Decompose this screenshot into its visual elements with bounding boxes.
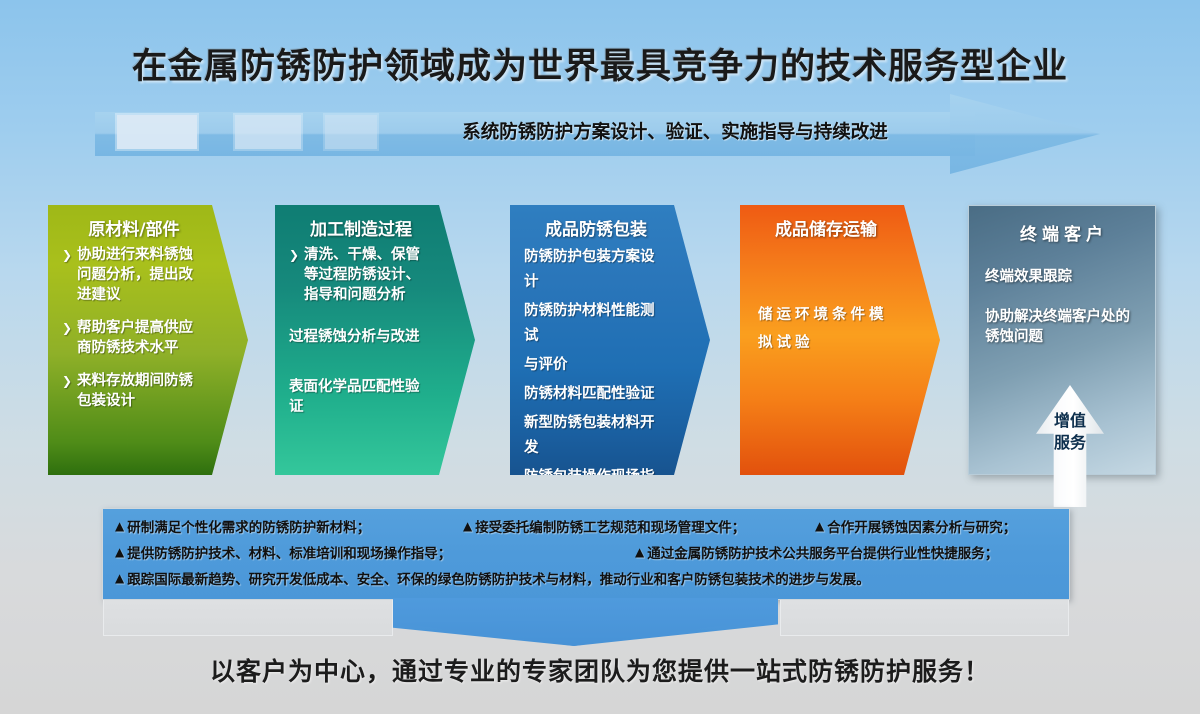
stage-heading: 加工制造过程	[289, 215, 433, 240]
capabilities-row: ▲ 跟踪国际最新趋势、研究开发低成本、安全、环保的绿色防锈防护技术与材料，推动行…	[115, 568, 1057, 594]
chevron-content: 成品储存运输	[754, 215, 898, 245]
stage-item: 来料存放期间防锈包装设计	[62, 371, 206, 411]
capability-text: 跟踪国际最新趋势、研究开发低成本、安全、环保的绿色防锈防护技术与材料，推动行业和…	[127, 568, 870, 588]
stage-item: 拟试验	[758, 333, 908, 353]
stage-heading: 终端客户	[985, 220, 1143, 245]
triangle-icon: ▲	[115, 571, 124, 585]
poster-canvas: 在金属防锈防护领域成为世界最具竞争力的技术服务型企业 系统防锈防护方案设计、验证…	[0, 0, 1200, 714]
page-title: 在金属防锈防护领域成为世界最具竞争力的技术服务型企业	[0, 38, 1200, 89]
stage-item: 表面化学品匹配性验证	[289, 377, 433, 417]
capability-text: 通过金属防锈防护技术公共服务平台提供行业性快捷服务；	[647, 542, 998, 562]
capability-item: ▲ 跟踪国际最新趋势、研究开发低成本、安全、环保的绿色防锈防护技术与材料，推动行…	[115, 568, 1057, 588]
chevron-content: 原材料/部件 协助进行来料锈蚀问题分析，提出改进建议 帮助客户提高供应商防锈技术…	[62, 215, 206, 424]
stage-heading: 成品防锈包装	[524, 215, 668, 240]
banner-block-2	[235, 115, 301, 149]
chevron-content: 成品防锈包装 防锈防护包装方案设计 防锈防护材料性能测试 与评价 防锈材料匹配性…	[524, 215, 668, 548]
stage-item: 过程锈蚀分析与改进	[289, 327, 433, 347]
stage-item: 防锈防护材料性能测试	[524, 299, 668, 349]
box-content: 终端客户 终端效果跟踪 协助解决终端客户处的锈蚀问题	[985, 220, 1143, 367]
triangle-icon: ▲	[635, 545, 644, 559]
banner-label: 系统防锈防护方案设计、验证、实施指导与持续改进	[395, 115, 955, 151]
banner-arrowhead-icon	[950, 94, 1100, 174]
triangle-icon: ▲	[815, 519, 824, 533]
capability-item: ▲ 合作开展锈蚀因素分析与研究；	[815, 516, 1016, 536]
stage-item: 储运环境条件模	[758, 305, 908, 325]
capability-text: 研制满足个性化需求的防锈防护新材料；	[127, 516, 370, 536]
process-banner-arrow: 系统防锈防护方案设计、验证、实施指导与持续改进	[95, 98, 1100, 170]
capability-item: ▲ 接受委托编制防锈工艺规范和现场管理文件；	[463, 516, 815, 536]
capabilities-row: ▲ 提供防锈防护技术、材料、标准培训和现场操作指导； ▲ 通过金属防锈防护技术公…	[115, 542, 1057, 568]
stage-item: 协助解决终端客户处的锈蚀问题	[985, 307, 1143, 347]
stage-chevron-packaging[interactable]: 成品防锈包装 防锈防护包装方案设计 防锈防护材料性能测试 与评价 防锈材料匹配性…	[510, 205, 710, 475]
value-added-service-label: 增值服务	[1052, 410, 1088, 454]
capabilities-panel: ▲ 研制满足个性化需求的防锈防护新材料； ▲ 接受委托编制防锈工艺规范和现场管理…	[102, 508, 1070, 600]
banner-block-1	[117, 115, 197, 149]
stage-item: 新型防锈包装材料开发	[524, 411, 668, 461]
stage-item: 终端效果跟踪	[985, 267, 1143, 287]
background-mask	[103, 600, 393, 636]
stage-item: 防锈材料匹配性验证	[524, 382, 668, 407]
capability-item: ▲ 提供防锈防护技术、材料、标准培训和现场操作指导；	[115, 542, 635, 562]
stage-chevron-storage-transport[interactable]: 成品储存运输 储运环境条件模 拟试验	[740, 205, 940, 475]
footer-slogan: 以客户为中心，通过专业的专家团队为您提供一站式防锈防护服务！	[0, 652, 1200, 688]
stage-heading: 原材料/部件	[62, 215, 206, 240]
capability-text: 合作开展锈蚀因素分析与研究；	[827, 516, 1016, 536]
stage-item: 防锈防护包装方案设计	[524, 245, 668, 295]
chevron-content: 加工制造过程 清洗、干燥、保管等过程防锈设计、指导和问题分析 过程锈蚀分析与改进…	[289, 215, 433, 430]
triangle-icon: ▲	[463, 519, 472, 533]
stage-item: 与评价	[524, 353, 668, 378]
banner-block-3	[325, 115, 377, 149]
background-mask	[780, 600, 1069, 636]
stage-heading: 成品储存运输	[754, 215, 898, 240]
stage-item: 清洗、干燥、保管等过程防锈设计、指导和问题分析	[289, 245, 433, 305]
stage-chevron-raw-material[interactable]: 原材料/部件 协助进行来料锈蚀问题分析，提出改进建议 帮助客户提高供应商防锈技术…	[48, 205, 248, 475]
capability-text: 提供防锈防护技术、材料、标准培训和现场操作指导；	[127, 542, 451, 562]
stage-chevron-manufacturing[interactable]: 加工制造过程 清洗、干燥、保管等过程防锈设计、指导和问题分析 过程锈蚀分析与改进…	[275, 205, 475, 475]
stage-item: 协助进行来料锈蚀问题分析，提出改进建议	[62, 245, 206, 305]
triangle-icon: ▲	[115, 545, 124, 559]
stage-item: 帮助客户提高供应商防锈技术水平	[62, 318, 206, 358]
triangle-icon: ▲	[115, 519, 124, 533]
capabilities-row: ▲ 研制满足个性化需求的防锈防护新材料； ▲ 接受委托编制防锈工艺规范和现场管理…	[115, 516, 1057, 542]
chevron-content-body: 储运环境条件模 拟试验	[758, 305, 908, 361]
capability-item: ▲ 通过金属防锈防护技术公共服务平台提供行业性快捷服务；	[635, 542, 998, 562]
capability-text: 接受委托编制防锈工艺规范和现场管理文件；	[475, 516, 745, 536]
capability-item: ▲ 研制满足个性化需求的防锈防护新材料；	[115, 516, 463, 536]
